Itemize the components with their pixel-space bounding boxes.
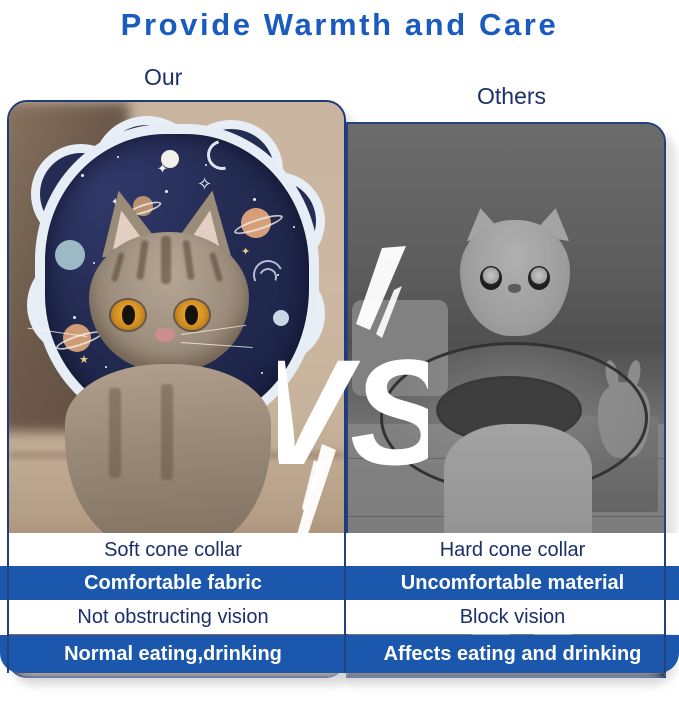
kitten-nose <box>155 328 175 342</box>
cell-our-2: Comfortable fabric <box>0 566 346 600</box>
table-border-left <box>7 533 9 673</box>
kitten-body <box>65 364 271 550</box>
cell-others-2: Uncomfortable material <box>346 566 679 600</box>
cell-others-1: Hard cone collar <box>346 533 679 567</box>
table-border-middle <box>344 533 346 673</box>
moon-motif <box>161 150 179 168</box>
table-border-right <box>664 533 666 673</box>
cell-others-3: Block vision <box>346 600 679 634</box>
page-title: Provide Warmth and Care <box>0 6 679 44</box>
table-row: Comfortable fabric Uncomfortable materia… <box>0 566 679 600</box>
crescent-motif <box>202 135 243 176</box>
kitten-eye-left <box>111 300 145 330</box>
table-row: Soft cone collar Hard cone collar <box>0 533 679 567</box>
kitten <box>71 188 301 588</box>
kitten-head <box>89 232 249 372</box>
cell-our-4: Normal eating,drinking <box>0 635 346 673</box>
table-row: Normal eating,drinking Affects eating an… <box>0 635 679 673</box>
kitten-eye-right <box>175 300 209 330</box>
comparison-board: ✦ ✧ ✦ ✦ ★ <box>0 96 679 686</box>
cell-our-1: Soft cone collar <box>0 533 346 567</box>
table-row: Not obstructing vision Block vision <box>0 600 679 634</box>
column-label-our: Our <box>144 64 182 90</box>
comparison-table: Soft cone collar Hard cone collar Comfor… <box>0 533 679 683</box>
cell-others-4: Affects eating and drinking <box>346 635 679 673</box>
cell-our-3: Not obstructing vision <box>0 600 346 634</box>
